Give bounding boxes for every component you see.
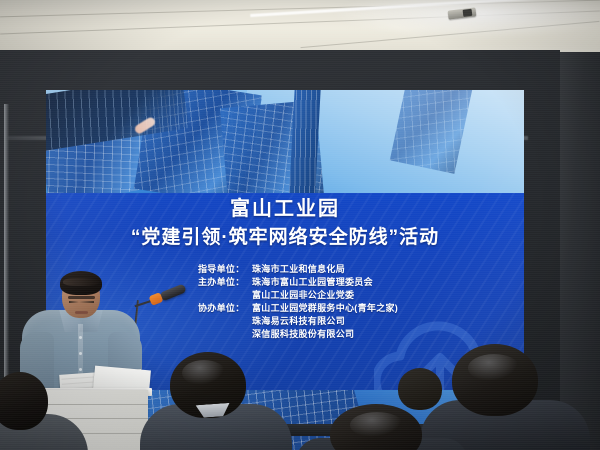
presenter-mouth [75,311,88,314]
presenter-brow [68,296,95,299]
credit-value: 珠海易云科技有限公司 [252,316,345,326]
audience-member-far-left-head [0,372,48,430]
credit-value: 富山工业园非公企业党委 [252,290,354,300]
ceiling-light-glow [330,0,600,38]
credit-value: 珠海市工业和信息化局 [252,264,345,274]
credit-label: 协办单位： [198,302,252,315]
credit-row: 协办单位：富山工业园党群服务中心(青年之家) [198,302,524,315]
credit-row: 主办单位：珠海市富山工业园管理委员会 [198,276,524,289]
shirt-button [79,368,82,371]
credit-value: 深信服科技股份有限公司 [252,329,354,339]
hair-sheen [182,360,226,386]
slide-title-line2: “党建引领·筑牢网络安全防线”活动 [46,228,524,247]
credit-row: 珠海易云科技有限公司 [198,315,524,328]
audience-member-center-right-head [452,344,538,416]
hair-sheen [468,354,520,382]
credit-value: 珠海市富山工业园管理委员会 [252,277,373,287]
presenter-eyes [69,301,94,303]
hair-sheen [350,412,404,438]
presentation-photo-scene: 富山工业园 “党建引领·筑牢网络安全防线”活动 指导单位：珠海市工业和信息化局 … [0,0,600,450]
right-wall [554,52,600,450]
credit-value: 富山工业园党群服务中心(青年之家) [252,303,398,313]
presenter-hair [60,271,102,295]
credit-row: 指导单位：珠海市工业和信息化局 [198,263,524,276]
slide-top-photo-band [46,90,524,193]
credit-row: 富山工业园非公企业党委 [198,289,524,302]
credit-label: 指导单位： [198,263,252,276]
audience-member-right-head [398,368,442,410]
shirt-button [79,336,82,339]
credit-label: 主办单位： [198,276,252,289]
credit-row: 深信服科技股份有限公司 [198,328,524,341]
slide-title-line1: 富山工业园 [46,199,524,219]
shirt-button [79,352,82,355]
